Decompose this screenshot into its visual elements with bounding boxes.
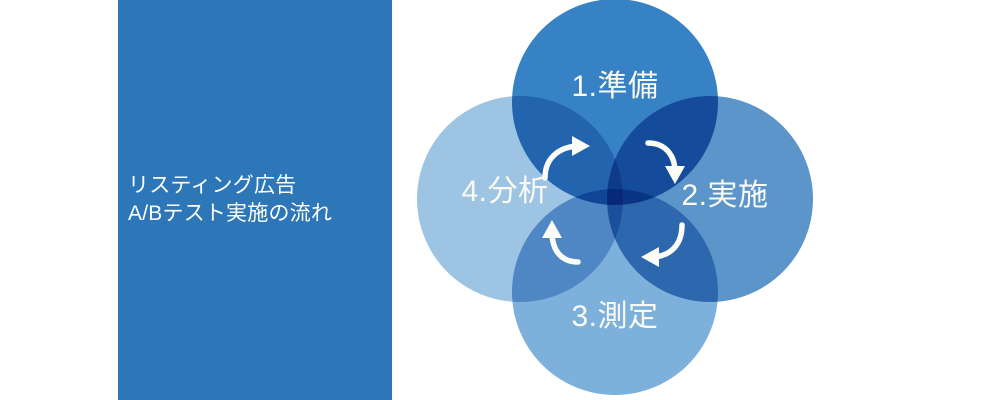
label-step-1-prepare: 1.準備: [571, 70, 658, 103]
cycle-diagram: 1.準備 2.実施 3.測定 4.分析: [400, 0, 840, 400]
label-step-3-measure: 3.測定: [571, 300, 658, 333]
title-panel: リスティング広告 A/Bテスト実施の流れ: [118, 0, 392, 400]
label-step-2-execute: 2.実施: [681, 179, 768, 212]
page-title: リスティング広告 A/Bテスト実施の流れ: [128, 172, 332, 227]
slide-canvas: リスティング広告 A/Bテスト実施の流れ 1.準備 2.実施 3.測定 4.分析: [0, 0, 1000, 400]
label-step-4-analysis: 4.分析: [461, 175, 548, 208]
